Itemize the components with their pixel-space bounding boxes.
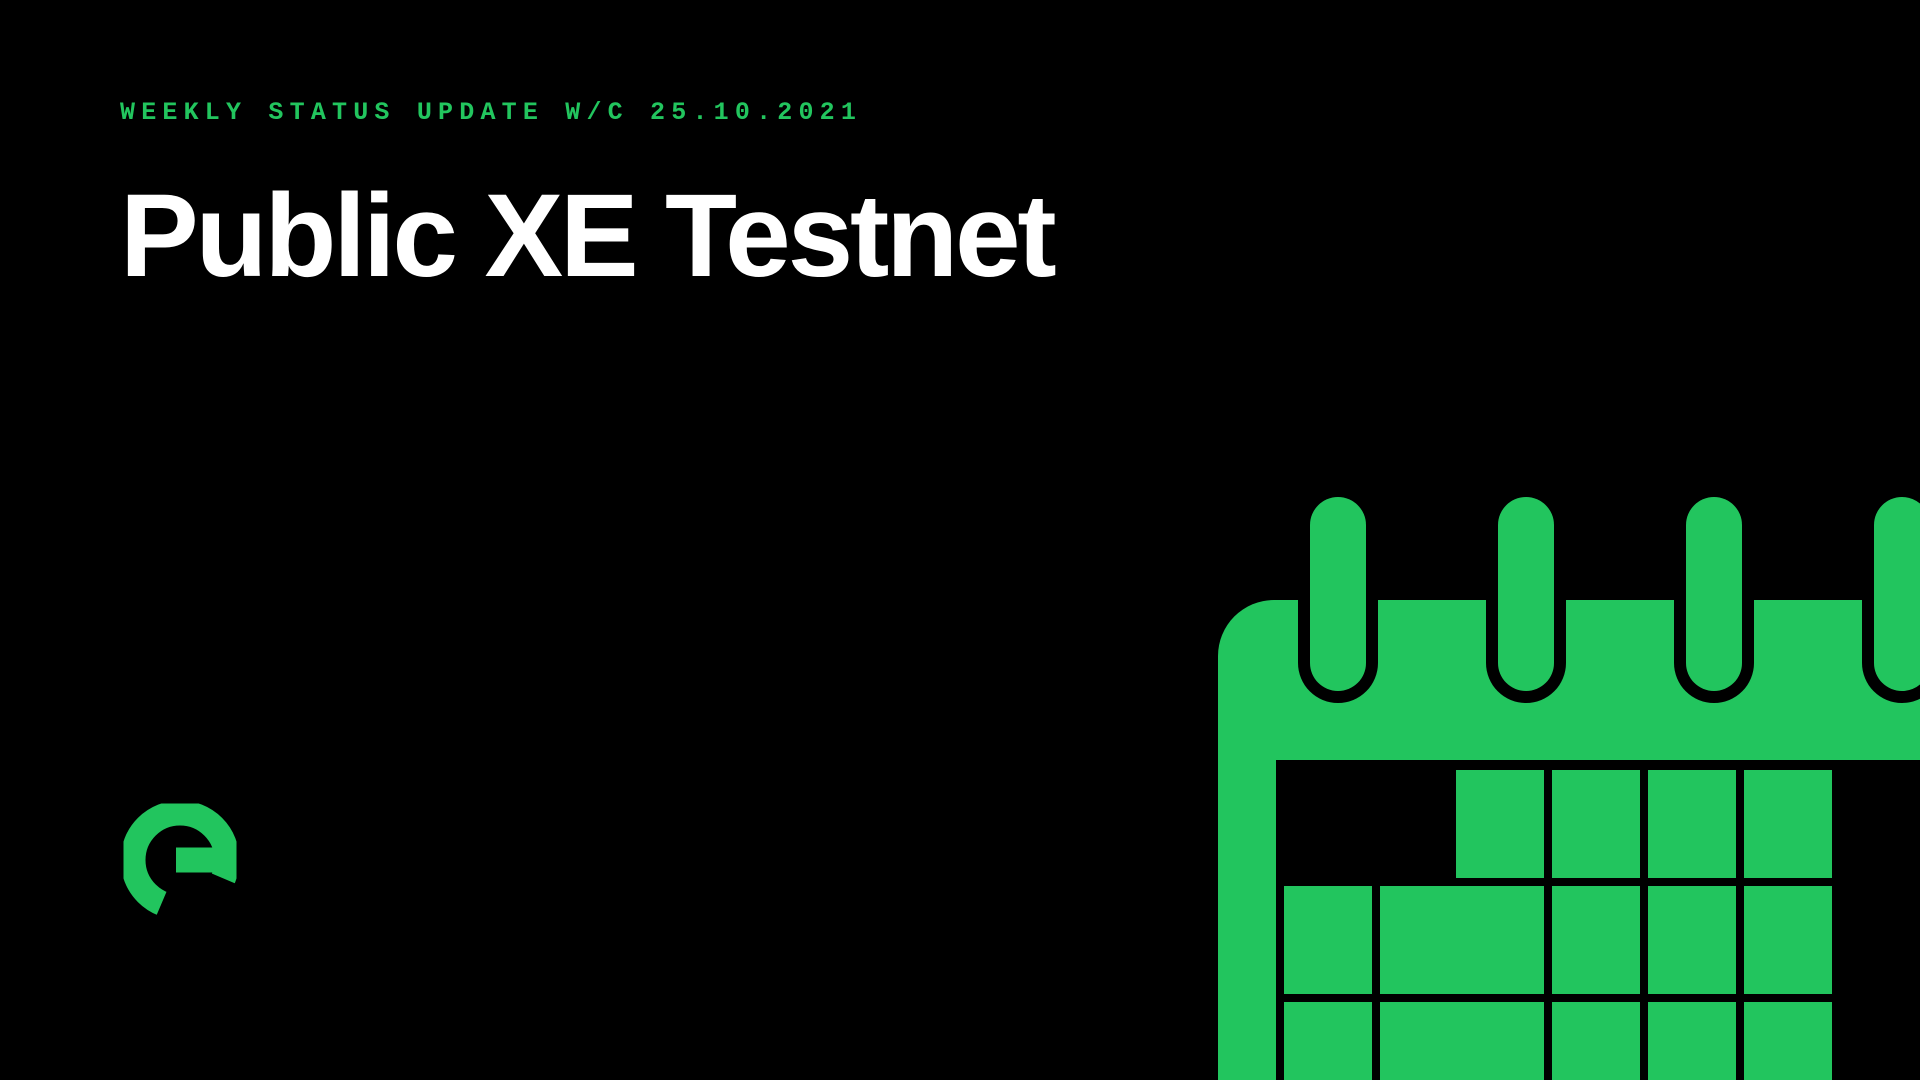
title-block: WEEKLY STATUS UPDATE W/C 25.10.2021 Publ…	[120, 98, 1054, 296]
eyebrow-label: WEEKLY STATUS UPDATE W/C 25.10.2021	[120, 98, 1054, 128]
page-title: Public XE Testnet	[120, 176, 1054, 296]
calendar-icon	[1218, 600, 1920, 1080]
e-logo	[118, 798, 242, 922]
calendar-grid	[1276, 760, 1920, 1080]
e-logo-icon	[118, 798, 242, 922]
slide-root: WEEKLY STATUS UPDATE W/C 25.10.2021 Publ…	[0, 0, 1920, 1080]
calendar-illustration	[1218, 600, 1920, 1080]
